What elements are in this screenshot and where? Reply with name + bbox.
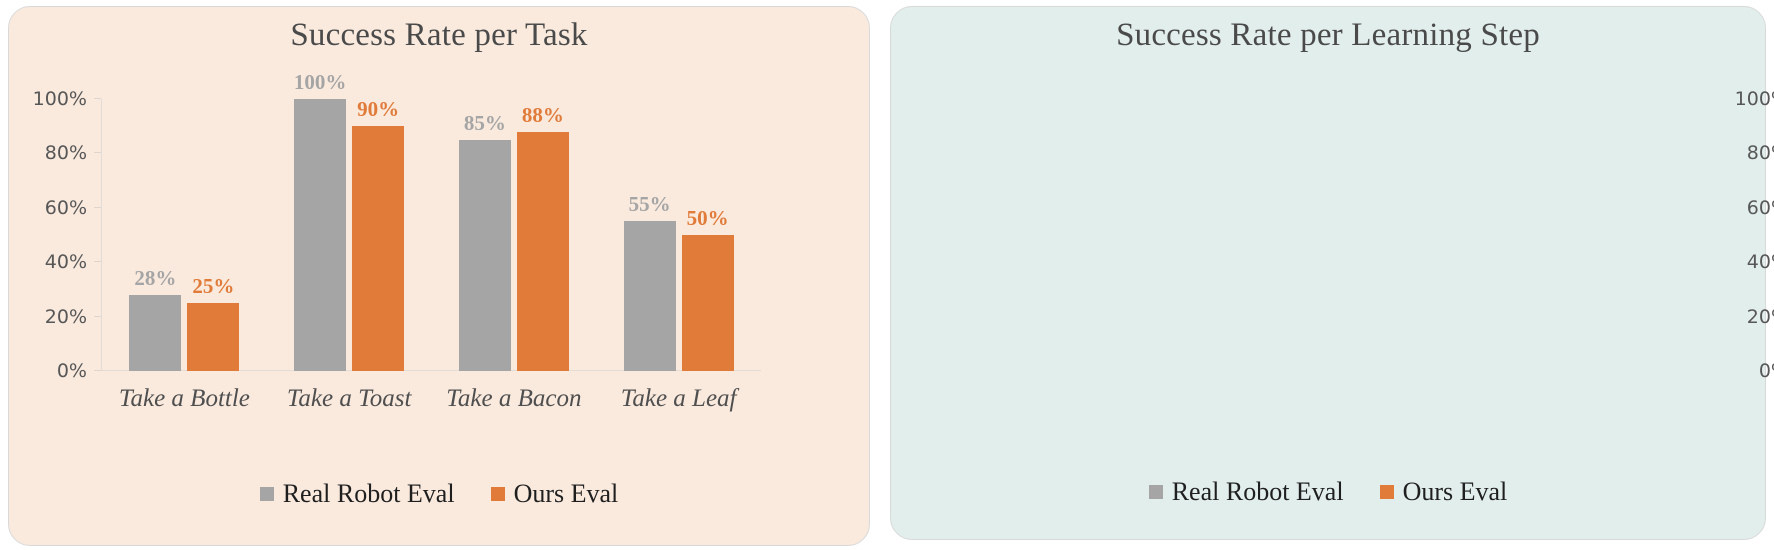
figure-root: Success Rate per Task 0%20%40%60%80%100%…: [0, 0, 1774, 550]
y-axis-tick-label: 0%: [1759, 360, 1774, 382]
bar-rect: [187, 303, 239, 371]
bar-real-robot-eval[interactable]: 100%: [294, 99, 346, 371]
bar-value-label: 25%: [192, 274, 234, 299]
bar-rect: [517, 132, 569, 371]
bar-groups: 28%25%Take a Bottle100%90%Take a Toast85…: [102, 99, 761, 371]
chart-card-success-rate-per-task: Success Rate per Task 0%20%40%60%80%100%…: [8, 6, 870, 546]
bar-ours-eval[interactable]: 88%: [517, 99, 569, 371]
bar-group: 28%25%Take a Bottle: [102, 99, 267, 371]
legend-item-ours-eval[interactable]: Ours Eval: [1380, 477, 1508, 507]
y-axis-tick-label: 40%: [45, 251, 87, 273]
bar-real-robot-eval[interactable]: 55%: [624, 99, 676, 371]
x-axis-category-label: Take a Bottle: [119, 385, 250, 413]
y-axis-tick-label: 60%: [1747, 197, 1774, 219]
y-axis-tick: [94, 98, 101, 99]
bar-ours-eval[interactable]: 50%: [682, 99, 734, 371]
bar-rect: [624, 221, 676, 371]
y-axis-tick: [94, 370, 101, 371]
bar-group: 85%88%Take a Bacon: [432, 99, 597, 371]
bar-value-label: 100%: [294, 70, 347, 95]
y-axis-tick-label: 80%: [45, 142, 87, 164]
legend-swatch-icon: [260, 487, 274, 501]
x-axis-category-label: Take a Leaf: [621, 385, 737, 413]
chart-title-learning-step: Success Rate per Learning Step: [891, 17, 1765, 54]
bar-ours-eval[interactable]: 25%: [187, 99, 239, 371]
x-axis-category-label: Take a Bacon: [446, 385, 581, 413]
y-axis-tick-label: 100%: [33, 88, 87, 110]
legend-swatch-icon: [1380, 485, 1394, 499]
y-axis-tick-label: 100%: [1735, 88, 1774, 110]
y-axis-tick: [94, 316, 101, 317]
bar-value-label: 55%: [629, 192, 671, 217]
bar-rect: [294, 99, 346, 371]
legend-label: Real Robot Eval: [1172, 477, 1344, 507]
y-axis-tick-label: 0%: [57, 360, 87, 382]
legend-item-real-robot-eval[interactable]: Real Robot Eval: [1149, 477, 1344, 507]
y-axis-tick: [94, 207, 101, 208]
bar-value-label: 90%: [357, 97, 399, 122]
chart-title-task: Success Rate per Task: [9, 17, 869, 54]
bar-value-label: 50%: [687, 206, 729, 231]
legend-learning-step: Real Robot EvalOurs Eval: [891, 477, 1765, 507]
y-axis-tick-label: 20%: [45, 306, 87, 328]
bar-value-label: 85%: [464, 111, 506, 136]
legend-item-ours-eval[interactable]: Ours Eval: [491, 479, 619, 509]
bar-rect: [459, 140, 511, 371]
y-axis-tick-label: 60%: [45, 197, 87, 219]
legend-label: Ours Eval: [514, 479, 619, 509]
chart-card-success-rate-per-learning-step: Success Rate per Learning Step 0%20%40%6…: [890, 6, 1766, 540]
bar-ours-eval[interactable]: 90%: [352, 99, 404, 371]
bar-rect: [682, 235, 734, 371]
bar-group: 55%50%Take a Leaf: [596, 99, 761, 371]
legend-swatch-icon: [1149, 485, 1163, 499]
x-axis-category-label: Take a Toast: [287, 385, 412, 413]
bar-real-robot-eval[interactable]: 28%: [129, 99, 181, 371]
plot-area-task: 0%20%40%60%80%100% 28%25%Take a Bottle10…: [101, 99, 761, 371]
legend-label: Real Robot Eval: [283, 479, 455, 509]
bar-real-robot-eval[interactable]: 85%: [459, 99, 511, 371]
y-axis-tick: [94, 152, 101, 153]
bar-value-label: 28%: [134, 266, 176, 291]
legend-swatch-icon: [491, 487, 505, 501]
bar-rect: [352, 126, 404, 371]
legend-label: Ours Eval: [1403, 477, 1508, 507]
bar-value-label: 88%: [522, 103, 564, 128]
bar-rect: [129, 295, 181, 371]
y-axis-tick-label: 40%: [1747, 251, 1774, 273]
bar-group: 100%90%Take a Toast: [267, 99, 432, 371]
legend-task: Real Robot EvalOurs Eval: [9, 479, 869, 509]
y-axis-tick-label: 20%: [1747, 306, 1774, 328]
y-axis-tick: [94, 261, 101, 262]
legend-item-real-robot-eval[interactable]: Real Robot Eval: [260, 479, 455, 509]
y-axis-tick-label: 80%: [1747, 142, 1774, 164]
